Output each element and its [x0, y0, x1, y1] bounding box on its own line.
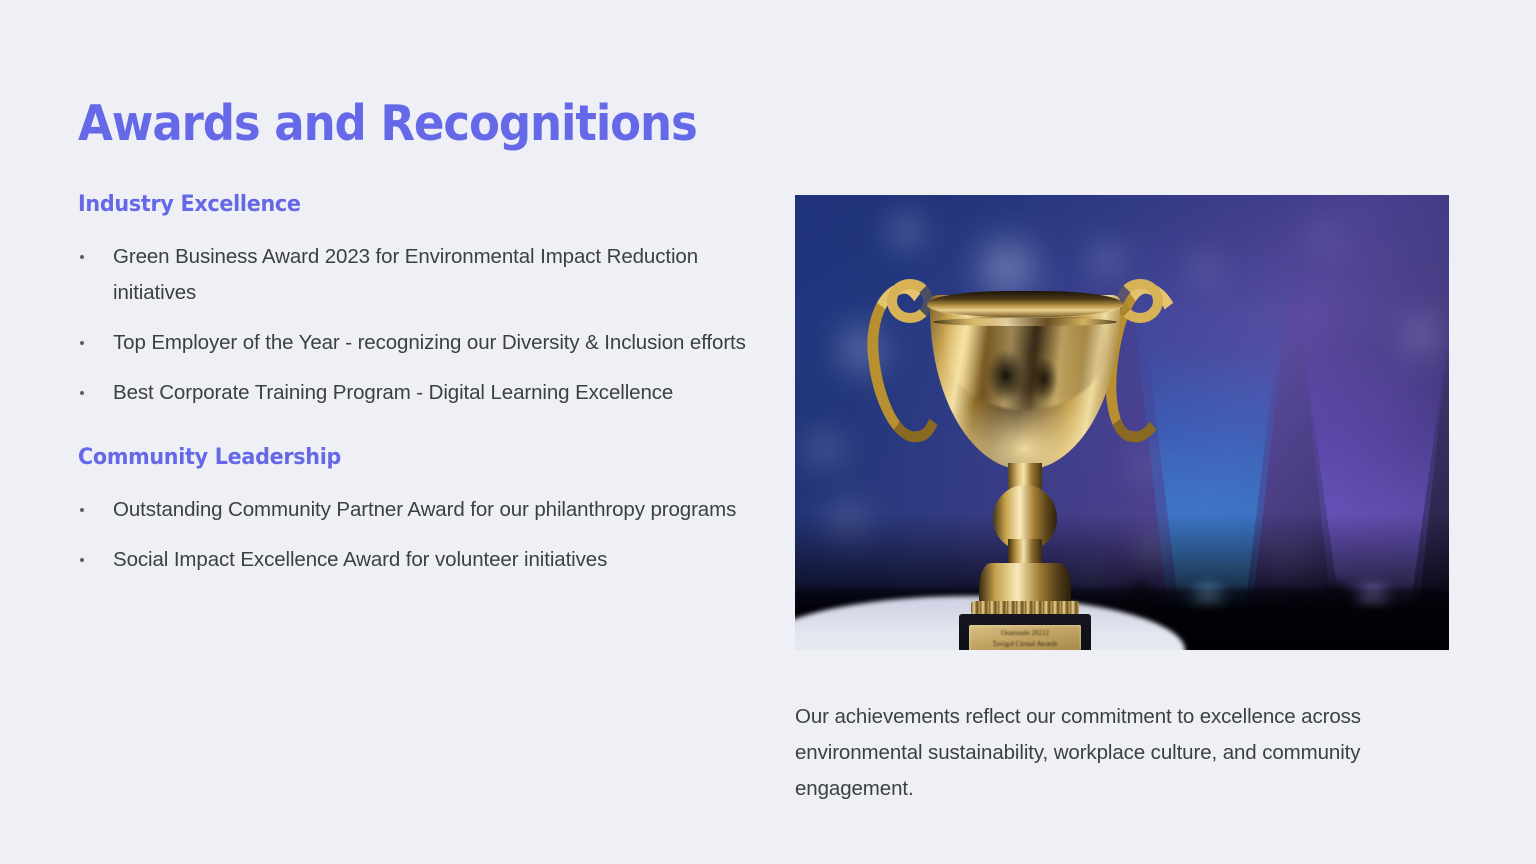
- community-leadership-list: Outstanding Community Partner Award for …: [78, 492, 754, 578]
- bullet-dot-icon: [80, 255, 84, 259]
- slide: Awards and Recognitions Industry Excelle…: [0, 0, 1536, 864]
- bullet-dot-icon: [80, 508, 84, 512]
- trophy-cup-rim: [927, 291, 1123, 317]
- trophy-handle-curl-right: [1117, 279, 1163, 323]
- list-item-text: Green Business Award 2023 for Environmen…: [113, 245, 698, 304]
- list-item: Green Business Award 2023 for Environmen…: [78, 239, 754, 311]
- list-item-text: Outstanding Community Partner Award for …: [113, 498, 736, 521]
- list-item: Best Corporate Training Program - Digita…: [78, 375, 754, 411]
- list-item-text: Best Corporate Training Program - Digita…: [113, 381, 673, 404]
- awards-content-column: Industry Excellence Green Business Award…: [78, 192, 754, 578]
- list-item-text: Top Employer of the Year - recognizing o…: [113, 331, 746, 354]
- plaque-line: Tavigol Cirotal Awards: [969, 639, 1081, 650]
- section-heading-community-leadership: Community Leadership: [78, 445, 713, 470]
- trophy-plaque: Ouatouale 20212 Tavigol Cirotal Awards T…: [969, 625, 1081, 650]
- photo-caption: Our achievements reflect our commitment …: [795, 699, 1455, 807]
- page-title: Awards and Recognitions: [78, 95, 697, 152]
- trophy-handle-curl-left: [887, 279, 933, 323]
- plaque-line: Ouatouale 20212: [969, 628, 1081, 639]
- trophy-graphic: Ouatouale 20212 Tavigol Cirotal Awards T…: [875, 195, 1175, 642]
- bullet-dot-icon: [80, 341, 84, 345]
- trophy-stem-collar: [971, 601, 1079, 615]
- list-item-text: Social Impact Excellence Award for volun…: [113, 548, 607, 571]
- section-heading-industry-excellence: Industry Excellence: [78, 192, 713, 217]
- bullet-dot-icon: [80, 558, 84, 562]
- list-item: Social Impact Excellence Award for volun…: [78, 542, 754, 578]
- list-item: Top Employer of the Year - recognizing o…: [78, 325, 754, 361]
- trophy-photo: Ouatouale 20212 Tavigol Cirotal Awards T…: [795, 195, 1449, 650]
- bullet-dot-icon: [80, 391, 84, 395]
- trophy-cup-ring: [933, 318, 1117, 326]
- industry-excellence-list: Green Business Award 2023 for Environmen…: [78, 239, 754, 411]
- list-item: Outstanding Community Partner Award for …: [78, 492, 754, 528]
